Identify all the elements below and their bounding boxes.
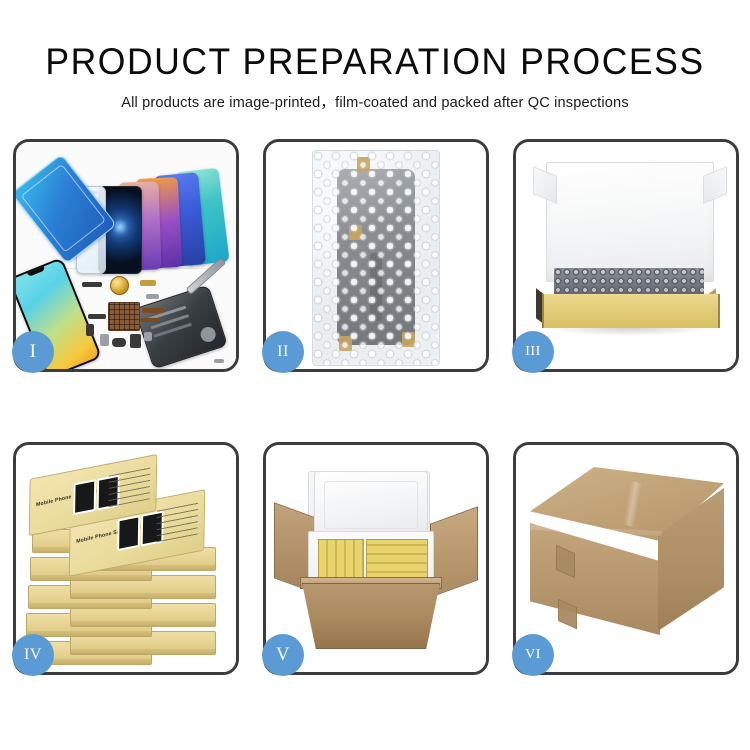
mailer-box-open (516, 142, 736, 369)
carton-tape-seam (588, 473, 677, 535)
spare-part (82, 282, 102, 287)
screw-set (214, 359, 224, 363)
step-badge-4: IV (12, 634, 54, 676)
spec-text-lines (108, 467, 150, 508)
foam-lid (314, 471, 428, 539)
step-badge-3: III (512, 331, 554, 373)
bubble-wrap-bag (312, 150, 440, 366)
yellow-boxes-horizontal (366, 539, 428, 581)
spare-part (146, 294, 159, 299)
step-panel-6[interactable]: VI (513, 442, 739, 675)
step-image-5 (266, 445, 486, 672)
step-image-4: Mobile Phone Spare Parts Mobile Phone Sp… (16, 445, 236, 672)
carton-face-left (530, 523, 660, 635)
step-panel-3[interactable]: III (513, 139, 739, 372)
sealed-carton (530, 467, 724, 645)
step-panel-5[interactable]: V (263, 442, 489, 675)
phone-graphic (73, 479, 96, 515)
step-image-3 (516, 142, 736, 369)
spare-part (100, 334, 109, 346)
step-image-1 (16, 142, 236, 369)
bubble-texture (313, 151, 439, 365)
speaker-module-icon (110, 276, 129, 295)
spare-part (88, 314, 106, 319)
box-lid-white (546, 162, 714, 282)
spare-part (86, 324, 94, 336)
step-image-2 (266, 142, 486, 369)
step-panel-2[interactable]: II (263, 139, 489, 372)
step-badge-2: II (262, 331, 304, 373)
product-preparation-infographic: PRODUCT PREPARATION PROCESS All products… (0, 0, 750, 750)
step-badge-6: VI (512, 634, 554, 676)
page-title: PRODUCT PREPARATION PROCESS (15, 40, 735, 84)
step-panel-1[interactable]: I (13, 139, 239, 372)
yellow-boxes-vertical (318, 539, 364, 581)
stacked-retail-boxes: Mobile Phone Spare Parts Mobile Phone Sp… (24, 455, 230, 665)
box-front-kraft (542, 294, 720, 328)
spare-part (140, 280, 156, 286)
carton-front (302, 583, 440, 649)
step-badge-1: I (12, 331, 54, 373)
logic-board (108, 302, 140, 331)
header: PRODUCT PREPARATION PROCESS All products… (0, 40, 750, 112)
phone-graphic (117, 515, 140, 551)
flex-cable (142, 308, 164, 313)
process-steps-grid: I II (13, 139, 739, 679)
page-subtitle: All products are image-printed，film-coat… (0, 91, 750, 112)
step-badge-5: V (262, 634, 304, 676)
step-image-6 (516, 445, 736, 672)
drop-shadow (546, 328, 712, 336)
spare-part (144, 332, 152, 341)
spare-part (130, 334, 141, 348)
spec-text-lines (156, 502, 198, 543)
step-panel-4[interactable]: Mobile Phone Spare Parts Mobile Phone Sp… (13, 442, 239, 675)
spare-part (112, 338, 126, 347)
flex-cable (140, 318, 160, 322)
